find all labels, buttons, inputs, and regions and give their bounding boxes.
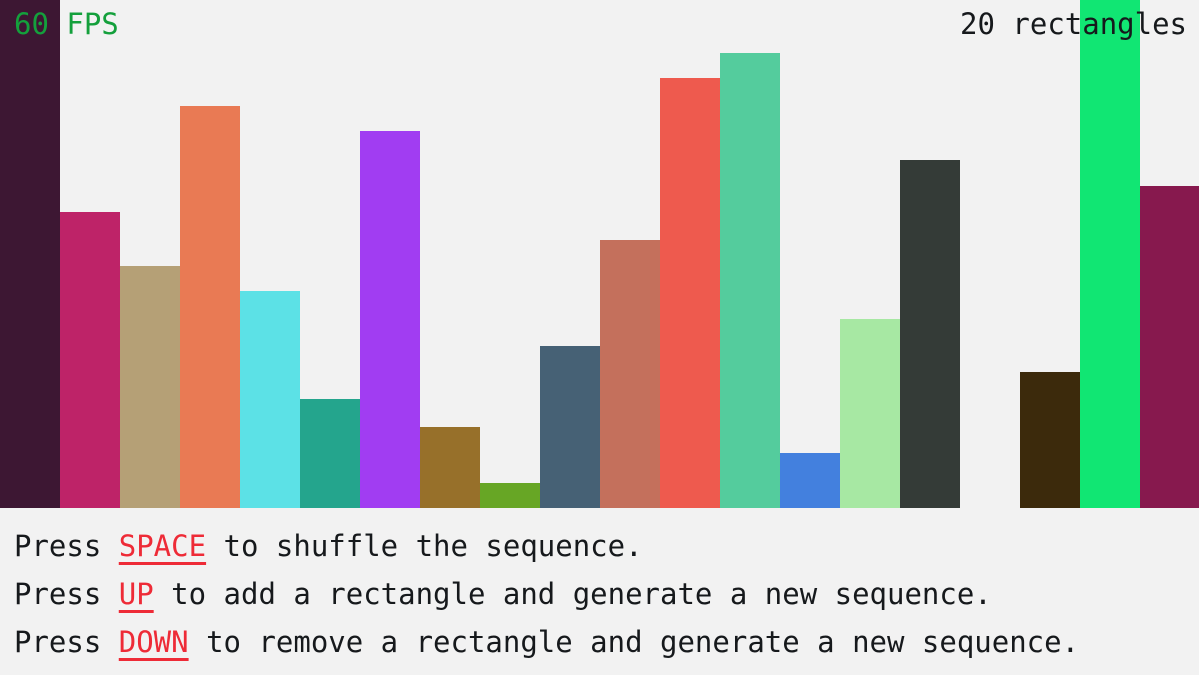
- instructions-panel: Press SPACE to shuffle the sequence.Pres…: [0, 508, 1199, 675]
- instruction-prefix: Press: [14, 529, 119, 563]
- rectangle-count-label: 20 rectangles: [960, 7, 1187, 41]
- instruction-suffix: to shuffle the sequence.: [206, 529, 643, 563]
- bar-5: [240, 291, 300, 508]
- fps-counter: 60 FPS: [14, 7, 119, 41]
- key-down[interactable]: DOWN: [119, 625, 189, 659]
- bar-19: [1080, 0, 1140, 508]
- rectangle-sequence-app: 60 FPS 20 rectangles Press SPACE to shuf…: [0, 0, 1199, 675]
- bar-11: [600, 240, 660, 508]
- instruction-suffix: to remove a rectangle and generate a new…: [189, 625, 1079, 659]
- instruction-prefix: Press: [14, 625, 119, 659]
- instruction-prefix: Press: [14, 577, 119, 611]
- instruction-line-3: Press DOWN to remove a rectangle and gen…: [14, 618, 1199, 666]
- instruction-line-2: Press UP to add a rectangle and generate…: [14, 570, 1199, 618]
- bar-16: [900, 160, 960, 508]
- bar-14: [780, 453, 840, 508]
- instruction-suffix: to add a rectangle and generate a new se…: [154, 577, 992, 611]
- bar-4: [180, 106, 240, 508]
- bar-8: [420, 427, 480, 508]
- bar-3: [120, 266, 180, 508]
- bar-2: [60, 212, 120, 508]
- bar-7: [360, 131, 420, 508]
- bar-1: [0, 0, 60, 508]
- bar-13: [720, 53, 780, 508]
- bar-12: [660, 78, 720, 508]
- bar-15: [840, 319, 900, 508]
- bar-10: [540, 346, 600, 508]
- instruction-line-1: Press SPACE to shuffle the sequence.: [14, 522, 1199, 570]
- bar-20: [1140, 186, 1199, 508]
- bar-chart: [0, 0, 1199, 508]
- bar-18: [1020, 372, 1080, 508]
- key-space[interactable]: SPACE: [119, 529, 206, 563]
- bar-6: [300, 399, 360, 508]
- bar-9: [480, 483, 540, 508]
- key-up[interactable]: UP: [119, 577, 154, 611]
